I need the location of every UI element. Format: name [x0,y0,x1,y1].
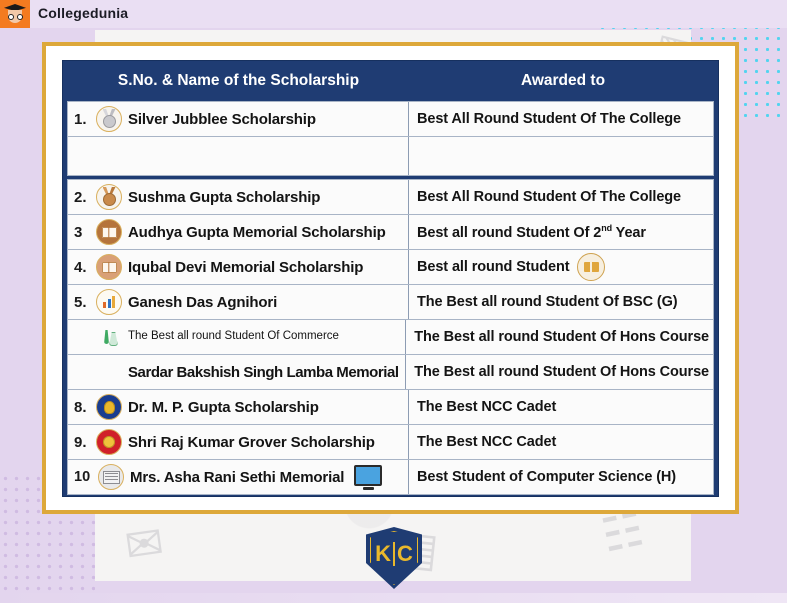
row-awarded-cell: Best all round Student Of 2nd Year [409,215,713,249]
awarded-text: The Best all round Student Of Hons Cours… [414,329,709,345]
row-serial-number: 10 [74,469,98,485]
awarded-text: Best All Round Student Of The College [417,111,681,127]
table-body: 1. Silver Jubblee Scholarship Best All R… [67,101,714,495]
row-scholarship-cell: 5. Ganesh Das Agnihori [68,285,409,319]
scholarship-name: Iqubal Devi Memorial Scholarship [128,259,363,276]
table-row[interactable]: Sardar Bakshish Singh Lamba Memorial The… [67,354,714,389]
awarded-text: Best All Round Student Of The College [417,189,681,205]
table-row[interactable]: 9. Shri Raj Kumar Grover Scholarship The… [67,424,714,459]
row-scholarship-cell: 1. Silver Jubblee Scholarship [68,102,409,136]
letter-k: K [375,541,391,566]
certificate-doc [103,471,120,484]
table-row-empty[interactable] [67,136,714,176]
letter-divider [393,542,395,566]
avatar-eye-left [8,14,14,20]
awarded-text: The Best all round Student Of Hons Cours… [414,364,709,380]
row-awarded-cell: Best Student of Computer Science (H) [409,460,713,494]
row-scholarship-cell: 8. Dr. M. P. Gupta Scholarship [68,390,409,424]
avatar-eye-right [17,14,23,20]
avatar-graphic [4,3,26,25]
scholarship-table: S.No. & Name of the Scholarship Awarded … [62,60,719,497]
row-awarded-cell: The Best all round Student Of BSC (G) [409,285,713,319]
row-awarded-cell: Best all round Student [409,250,713,284]
certificate-icon [98,464,124,490]
awarded-text: Best Student of Computer Science (H) [417,469,676,485]
row-scholarship-cell: 2. Sushma Gupta Scholarship [68,180,409,214]
row-serial-number: 1. [74,111,96,128]
row-serial-number: 3 [74,224,96,241]
open-book-light-icon [96,254,122,280]
row-serial-number: 8. [74,399,96,416]
flask-glyph [101,329,117,345]
scholarship-name: Silver Jubblee Scholarship [128,111,316,128]
medal-disc [103,115,116,128]
row-serial-number: 2. [74,189,96,206]
chart-bars [103,296,115,308]
row-scholarship-cell: 4. Iqubal Devi Memorial Scholarship [68,250,409,284]
awarded-text: The Best NCC Cadet [417,399,556,415]
scholarship-name: Sushma Gupta Scholarship [128,189,320,206]
shield-letters: KC [375,541,413,567]
table-row[interactable]: 3 Audhya Gupta Memorial Scholarship Best… [67,214,714,249]
awarded-text: The Best all round Student Of BSC (G) [417,294,678,310]
row-scholarship-cell: 3 Audhya Gupta Memorial Scholarship [68,215,409,249]
kc-shield-logo: KC [366,527,422,589]
table-row[interactable]: 8. Dr. M. P. Gupta Scholarship The Best … [67,389,714,424]
flask-icon [96,324,122,350]
row-awarded-cell: The Best all round Student Of Hons Cours… [406,320,713,354]
header-scholarship: S.No. & Name of the Scholarship [63,72,408,90]
awarded-text: The Best NCC Cadet [417,434,556,450]
open-book-dark-icon [96,219,122,245]
awarded-text: Best all round Student [417,259,569,275]
awarded-text: Best all round Student Of 2nd Year [417,223,646,241]
row-awarded-cell: The Best NCC Cadet [409,390,713,424]
table-row[interactable]: The Best all round Student Of Commerce T… [67,319,714,354]
monitor-stand [363,487,374,490]
row-awarded-cell: Best All Round Student Of The College [409,102,713,136]
shield-shape: KC [366,527,422,589]
row-scholarship-cell: Sardar Bakshish Singh Lamba Memorial [68,355,406,389]
row-awarded-cell [409,137,713,175]
table-row[interactable]: 5. Ganesh Das Agnihori The Best all roun… [67,284,714,319]
table-row[interactable]: 4. Iqubal Devi Memorial Scholarship Best… [67,249,714,284]
table-row[interactable]: 10 Mrs. Asha Rani Sethi Memorial Best St… [67,459,714,495]
scholarship-name: Dr. M. P. Gupta Scholarship [128,399,319,416]
row-awarded-cell: The Best NCC Cadet [409,425,713,459]
row-serial-number: 9. [74,434,96,451]
header-awarded-to: Awarded to [408,72,718,90]
gold-book-icon [577,253,605,281]
scholarship-name: Shri Raj Kumar Grover Scholarship [128,434,375,451]
bar-chart-icon [96,289,122,315]
table-row[interactable]: 1. Silver Jubblee Scholarship Best All R… [67,101,714,136]
row-serial-number: 4. [74,259,96,276]
scholarship-name: Audhya Gupta Memorial Scholarship [128,224,386,241]
scholarship-name: Mrs. Asha Rani Sethi Memorial [130,469,344,486]
medal-disc [103,193,116,206]
top-bar: Collegedunia [0,0,787,28]
brand-name: Collegedunia [38,5,128,21]
slide-screen: ✎ ✐ ✉ ▤ ☷ ▧ Collegedunia S.No. & Name of… [0,0,787,603]
bronze-medal-icon [96,184,122,210]
letter-c: C [397,541,413,566]
table-header-row: S.No. & Name of the Scholarship Awarded … [63,61,718,101]
row-scholarship-cell [68,137,409,175]
bottom-strip [0,593,787,603]
ordinal-suffix: nd [601,223,612,233]
watermark-icon-3: ✉ [122,519,167,570]
silver-medal-icon [96,106,122,132]
blue-emblem-badge-icon [96,394,122,420]
no-icon-placeholder [96,359,122,385]
book-pages [584,262,599,272]
scholarship-name: Sardar Bakshish Singh Lamba Memorial [128,364,399,381]
book-pages [102,227,117,238]
row-awarded-cell: Best All Round Student Of The College [409,180,713,214]
monitor-icon [354,465,382,490]
row-awarded-cell: The Best all round Student Of Hons Cours… [406,355,713,389]
scholarship-name: Ganesh Das Agnihori [128,294,277,311]
emblem-glyph [104,401,115,414]
emblem-glyph [103,436,115,448]
row-serial-number: 5. [74,294,96,311]
table-row[interactable]: 2. Sushma Gupta Scholarship Best All Rou… [67,179,714,214]
collegedunia-logo-icon[interactable] [0,0,30,28]
red-emblem-badge-icon [96,429,122,455]
book-pages [102,262,117,273]
row-scholarship-cell: 9. Shri Raj Kumar Grover Scholarship [68,425,409,459]
monitor-screen [354,465,382,486]
scholarship-name: The Best all round Student Of Commerce [128,330,339,343]
row-scholarship-cell: 10 Mrs. Asha Rani Sethi Memorial [68,460,409,494]
row-scholarship-cell: The Best all round Student Of Commerce [68,320,406,354]
